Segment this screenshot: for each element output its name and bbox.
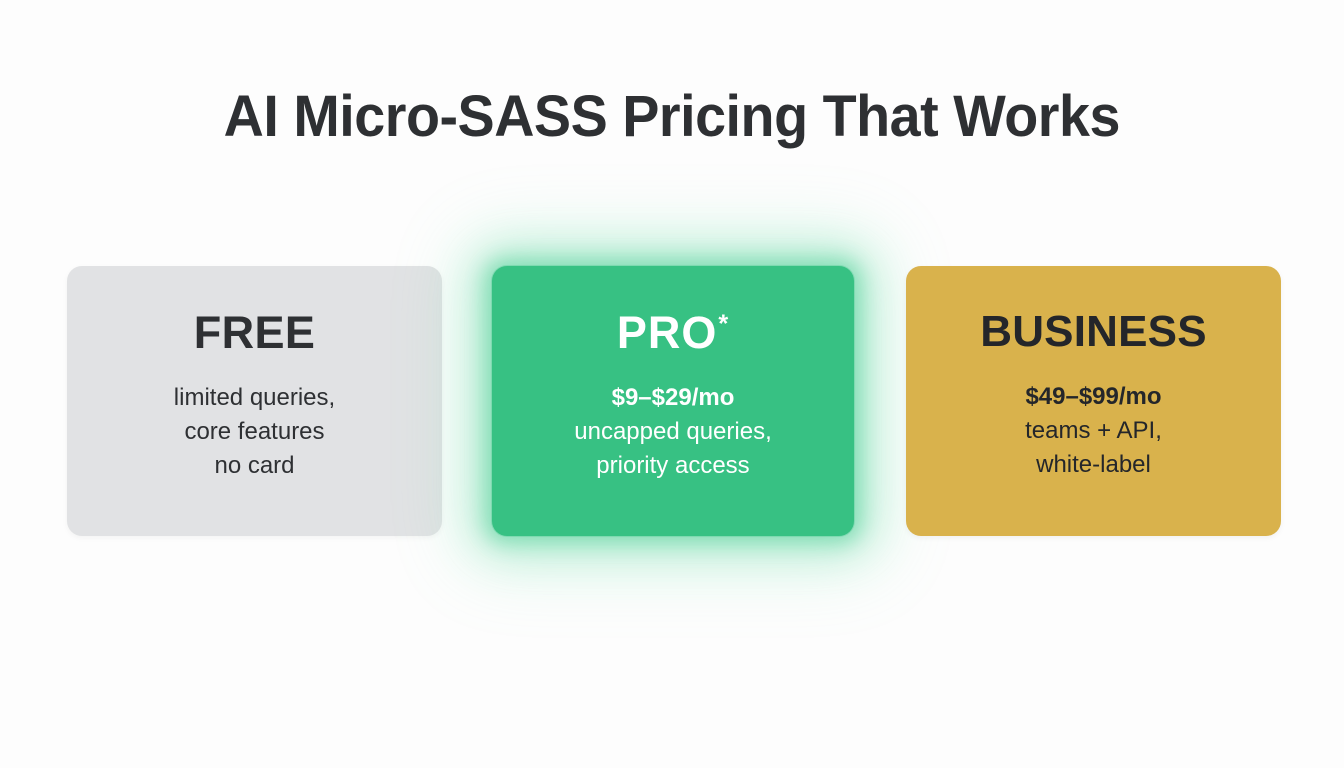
pricing-card-pro-line-1: uncapped queries,: [574, 415, 771, 449]
pricing-card-pro-line-2: priority access: [574, 449, 771, 483]
pricing-card-pro-title-text: PRO: [617, 307, 718, 358]
pricing-card-business-details: $49–$99/mo teams + API, white-label: [1025, 354, 1162, 482]
pricing-card-business-title: BUSINESS: [980, 266, 1207, 354]
pricing-card-free-details: limited queries, core features no card: [174, 355, 335, 483]
pricing-card-free-title: FREE: [194, 266, 316, 355]
pricing-card-business-line-1: teams + API,: [1025, 414, 1162, 448]
pricing-card-pro-price: $9–$29/mo: [574, 381, 771, 415]
page-title: AI Micro-SASS Pricing That Works: [224, 88, 1120, 146]
pricing-card-business-price: $49–$99/mo: [1025, 380, 1162, 414]
pricing-card-free-title-text: FREE: [194, 307, 316, 358]
pricing-card-free-line-3: no card: [174, 449, 335, 483]
pricing-card-business[interactable]: BUSINESS $49–$99/mo teams + API, white-l…: [906, 266, 1281, 536]
pricing-card-business-title-text: BUSINESS: [980, 307, 1207, 356]
pricing-card-pro[interactable]: PRO* $9–$29/mo uncapped queries, priorit…: [492, 266, 854, 536]
pricing-card-free-line-2: core features: [174, 415, 335, 449]
pricing-card-free-line-1: limited queries,: [174, 381, 335, 415]
pricing-card-pro-title: PRO*: [617, 266, 729, 355]
pricing-tier-row: FREE limited queries, core features no c…: [0, 266, 1344, 536]
pricing-card-pro-asterisk: *: [718, 310, 729, 338]
pricing-card-business-line-2: white-label: [1025, 448, 1162, 482]
pricing-card-free[interactable]: FREE limited queries, core features no c…: [67, 266, 442, 536]
pricing-card-pro-details: $9–$29/mo uncapped queries, priority acc…: [574, 355, 771, 483]
page-title-container: AI Micro-SASS Pricing That Works: [0, 88, 1344, 146]
pricing-slide: AI Micro-SASS Pricing That Works FREE li…: [0, 0, 1344, 768]
